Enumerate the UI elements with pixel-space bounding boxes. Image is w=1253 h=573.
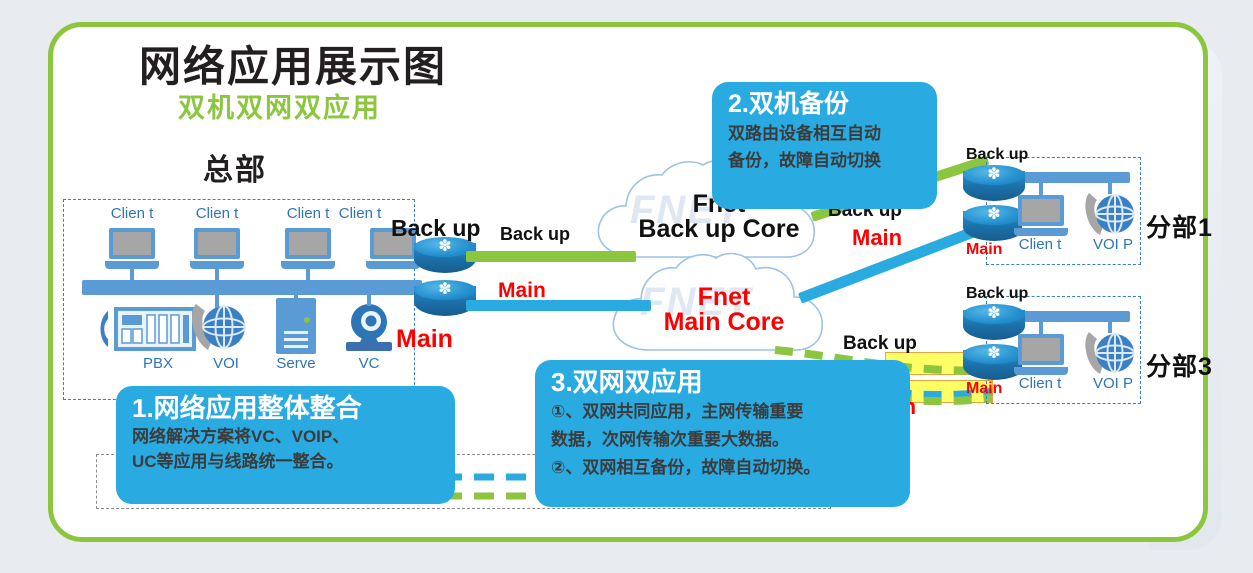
laptop-screen-icon xyxy=(194,228,240,259)
vc-label: VC xyxy=(339,356,399,371)
server-label: Serve xyxy=(266,356,326,371)
pbx-label: PBX xyxy=(128,356,188,371)
page-subtitle: 双机双网双应用 xyxy=(178,86,381,125)
callout-3-body-line3: ②、双网相互备份，故障自动切换。 xyxy=(551,454,896,482)
callout-2-body-line2: 备份，故障自动切换 xyxy=(728,147,923,174)
router-arrows-icon: ✽ xyxy=(978,346,1010,362)
hq-client-4-label: Clien t xyxy=(337,206,383,221)
callout-3-title: 3.双网双应用 xyxy=(551,366,896,398)
hq-client-2-stem xyxy=(215,269,219,283)
hq-server-stem xyxy=(294,294,298,302)
hq-voi-stem xyxy=(215,294,219,308)
branch1-client-label: Clien t xyxy=(1017,237,1063,252)
backup-core-line2: Back up Core xyxy=(601,217,837,242)
diagram-canvas: 网络应用展示图 双机双网双应用 总部 Clien t Clien t Clien… xyxy=(0,0,1253,573)
branch3-voip-stem xyxy=(1108,321,1112,333)
link-branch1-main-label: Main xyxy=(852,225,902,251)
page-title: 网络应用展示图 xyxy=(139,33,447,94)
hq-client-2-label: Clien t xyxy=(194,206,240,221)
link-branch3-backup-label: Back up xyxy=(843,333,917,355)
callout-1-body-line2: UC等应用与线路统一整合。 xyxy=(132,449,441,474)
branch1-voip-stem xyxy=(1108,182,1112,194)
hq-router-main-label: Main xyxy=(396,325,453,354)
branch3-voip-globe-icon[interactable] xyxy=(1080,329,1138,379)
hq-client-1-label: Clien t xyxy=(109,206,155,221)
laptop-base xyxy=(1014,228,1068,236)
branch1-client-stem xyxy=(1039,182,1043,196)
pbx-icon[interactable] xyxy=(96,305,196,353)
branch3-router-main-label: Main xyxy=(966,380,1002,398)
laptop-screen-icon xyxy=(1018,195,1064,226)
hq-vc-stem xyxy=(367,294,371,306)
callout-3-body-line2: 数据，次网传输次重要大数据。 xyxy=(551,426,896,454)
hq-client-2[interactable] xyxy=(190,228,244,269)
branch3-name: 分部3 xyxy=(1146,347,1213,383)
callout-2-body-line1: 双路由设备相互自动 xyxy=(728,120,923,147)
video-camera-icon[interactable] xyxy=(340,302,398,354)
branch1-voip-label: VOI P xyxy=(1090,237,1136,252)
laptop-base xyxy=(190,261,244,269)
callout-2-title: 2.双机备份 xyxy=(728,88,923,120)
laptop-base xyxy=(105,261,159,269)
callout-1-body-line1: 网络解决方案将VC、VOIP、 xyxy=(132,424,441,449)
laptop-screen-icon xyxy=(109,228,155,259)
callout-2[interactable]: 2.双机备份 双路由设备相互自动 备份，故障自动切换 xyxy=(712,82,937,209)
router-arrows-icon: ✽ xyxy=(978,207,1010,223)
branch1-name: 分部1 xyxy=(1146,208,1213,244)
laptop-screen-icon xyxy=(285,228,331,259)
branch3-router-backup-label: Back up xyxy=(966,285,1028,303)
branch3-client-stem xyxy=(1039,321,1043,335)
hq-client-3-label: Clien t xyxy=(285,206,331,221)
link-hq-main xyxy=(466,300,651,311)
voi-label: VOI xyxy=(196,356,256,371)
hq-client-3-stem xyxy=(306,269,310,283)
router-arrows-icon: ✽ xyxy=(978,167,1010,183)
router-arrows-icon: ✽ xyxy=(429,282,461,298)
voip-globe-icon[interactable] xyxy=(186,300,250,356)
link-hq-backup-label: Back up xyxy=(500,224,570,245)
branch1-router-backup-label: Back up xyxy=(966,146,1028,164)
callout-3[interactable]: 3.双网双应用 ①、双网共同应用，主网传输重要 数据，次网传输次重要大数据。 ②… xyxy=(535,360,910,507)
server-icon[interactable] xyxy=(274,298,318,356)
router-arrows-icon: ✽ xyxy=(978,306,1010,322)
headquarters-title: 总部 xyxy=(203,145,267,189)
branch1-router-main-label: Main xyxy=(966,241,1002,259)
hq-client-1-stem xyxy=(130,269,134,283)
branch3-voip-label: VOI P xyxy=(1090,376,1136,391)
branch3-client[interactable] xyxy=(1014,334,1066,374)
laptop-base xyxy=(1014,367,1068,375)
link-hq-backup xyxy=(466,251,636,262)
laptop-screen-icon xyxy=(1018,334,1064,365)
callout-1[interactable]: 1.网络应用整体整合 网络解决方案将VC、VOIP、 UC等应用与线路统一整合。 xyxy=(116,386,455,504)
link-hq-main-label: Main xyxy=(498,279,546,303)
branch1-voip-globe-icon[interactable] xyxy=(1080,190,1138,240)
branch3-client-label: Clien t xyxy=(1017,376,1063,391)
callout-3-body-line1: ①、双网共同应用，主网传输重要 xyxy=(551,398,896,426)
branch1-client[interactable] xyxy=(1014,195,1066,235)
laptop-base xyxy=(281,261,335,269)
hq-client-1[interactable] xyxy=(105,228,159,269)
laptop-base xyxy=(366,261,420,269)
hq-client-3[interactable] xyxy=(281,228,335,269)
hq-router-backup-label: Back up xyxy=(391,215,480,242)
callout-1-title: 1.网络应用整体整合 xyxy=(132,392,441,424)
